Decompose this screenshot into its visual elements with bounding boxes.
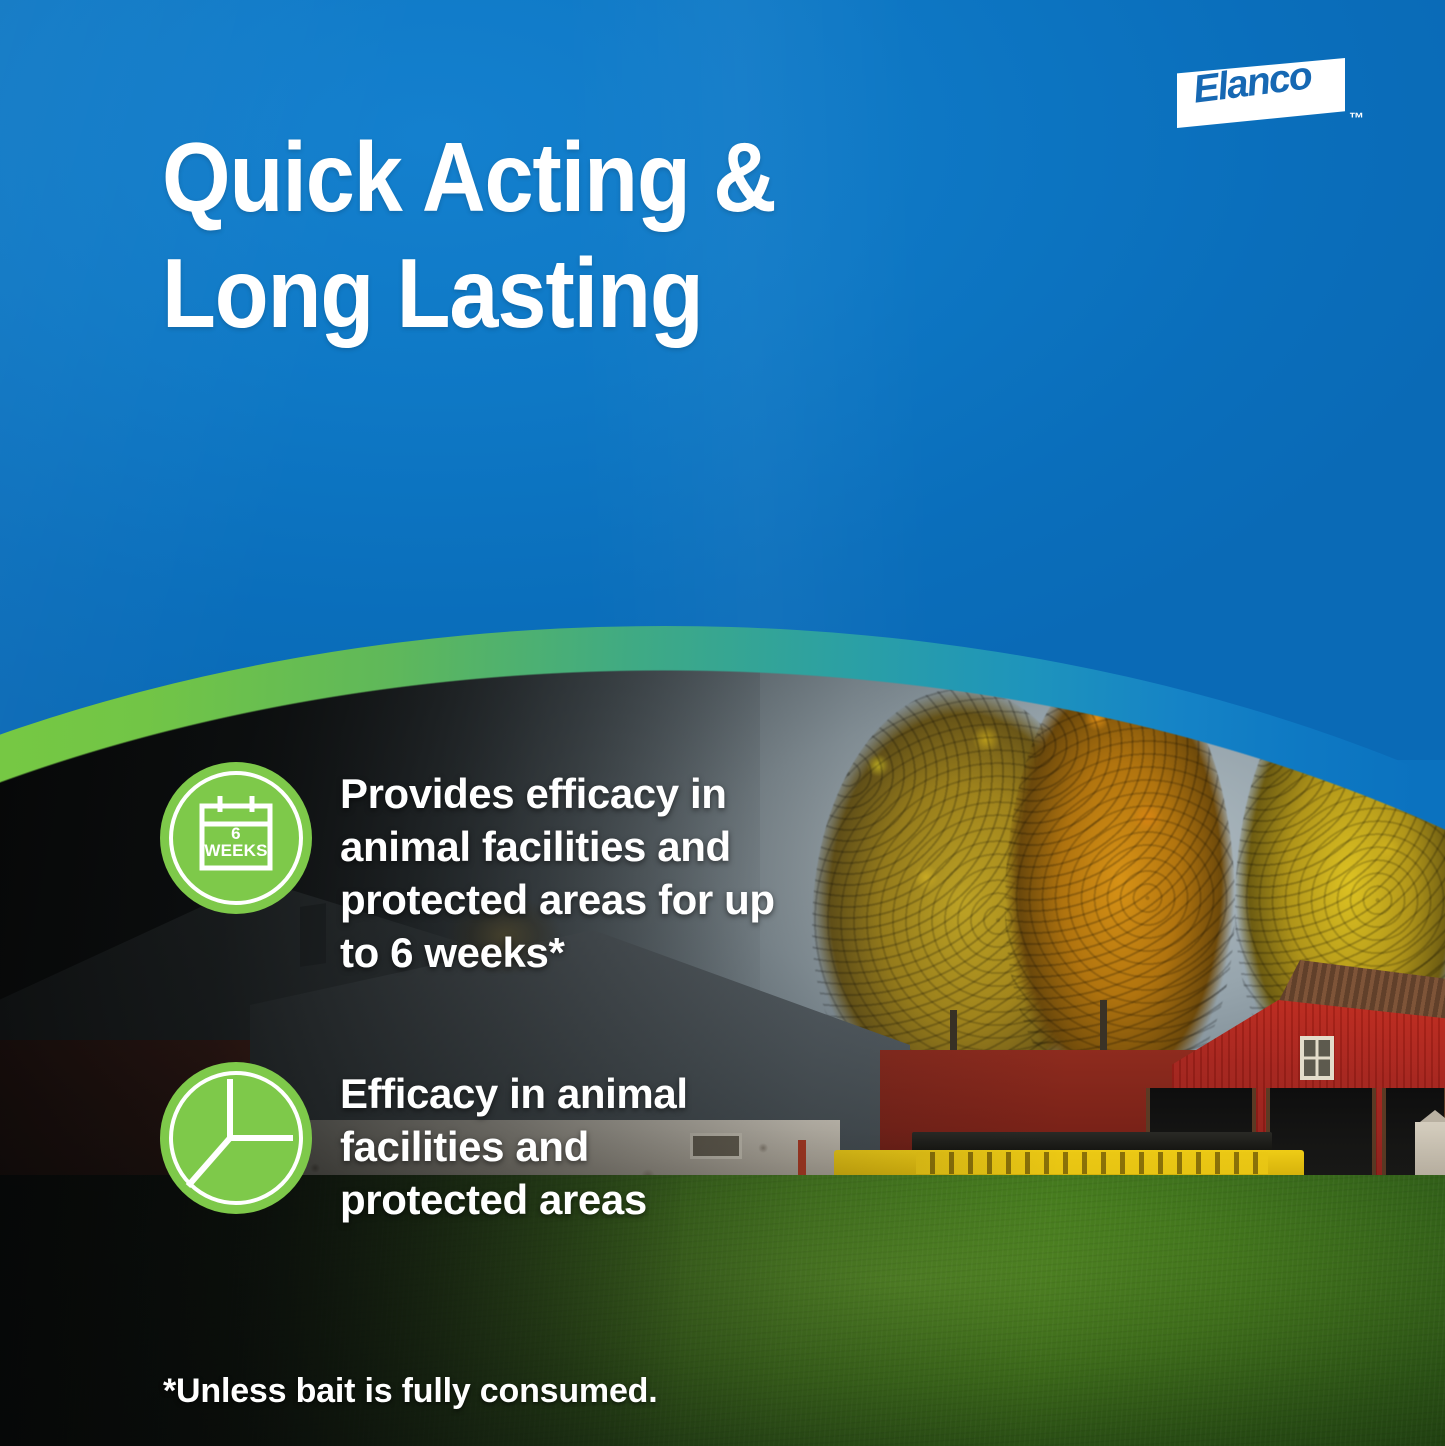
poster: Quick Acting & Long Lasting Elanco ™ 6 W…: [0, 0, 1445, 1446]
feature-duration-text: Provides efficacy in animal facilities a…: [340, 762, 775, 980]
badge-unit: WEEKS: [160, 841, 312, 861]
headline-line-1: Quick Acting &: [162, 120, 936, 236]
footnote: *Unless bait is fully consumed.: [163, 1372, 658, 1411]
feature-line: Provides efficacy in: [340, 768, 775, 821]
right-barn-window: [1300, 1036, 1334, 1080]
combine-reel: [916, 1152, 1268, 1174]
left-barn-window: [690, 1133, 742, 1159]
combine-header-bar: [912, 1132, 1272, 1152]
feature-line: protected areas: [340, 1174, 688, 1227]
feature-line: Efficacy in animal: [340, 1068, 688, 1121]
pie-chart-thirds-icon: [160, 1062, 312, 1214]
trademark-symbol: ™: [1349, 110, 1364, 127]
feature-line: to 6 weeks*: [340, 927, 775, 980]
feature-efficacy-text: Efficacy in animal facilities and protec…: [340, 1062, 688, 1227]
feature-line: animal facilities and: [340, 821, 775, 874]
headline-line-2: Long Lasting: [162, 236, 936, 352]
feature-line: protected areas for up: [340, 874, 775, 927]
calendar-6-weeks-icon: 6 WEEKS: [160, 762, 312, 914]
feature-line: facilities and: [340, 1121, 688, 1174]
feature-row-duration: 6 WEEKS Provides efficacy in animal faci…: [160, 762, 775, 980]
pie-thirds-glyph: [160, 1062, 312, 1214]
feature-row-efficacy: Efficacy in animal facilities and protec…: [160, 1062, 688, 1227]
elanco-logo: Elanco ™: [1177, 58, 1367, 142]
page-title: Quick Acting & Long Lasting: [162, 120, 936, 351]
